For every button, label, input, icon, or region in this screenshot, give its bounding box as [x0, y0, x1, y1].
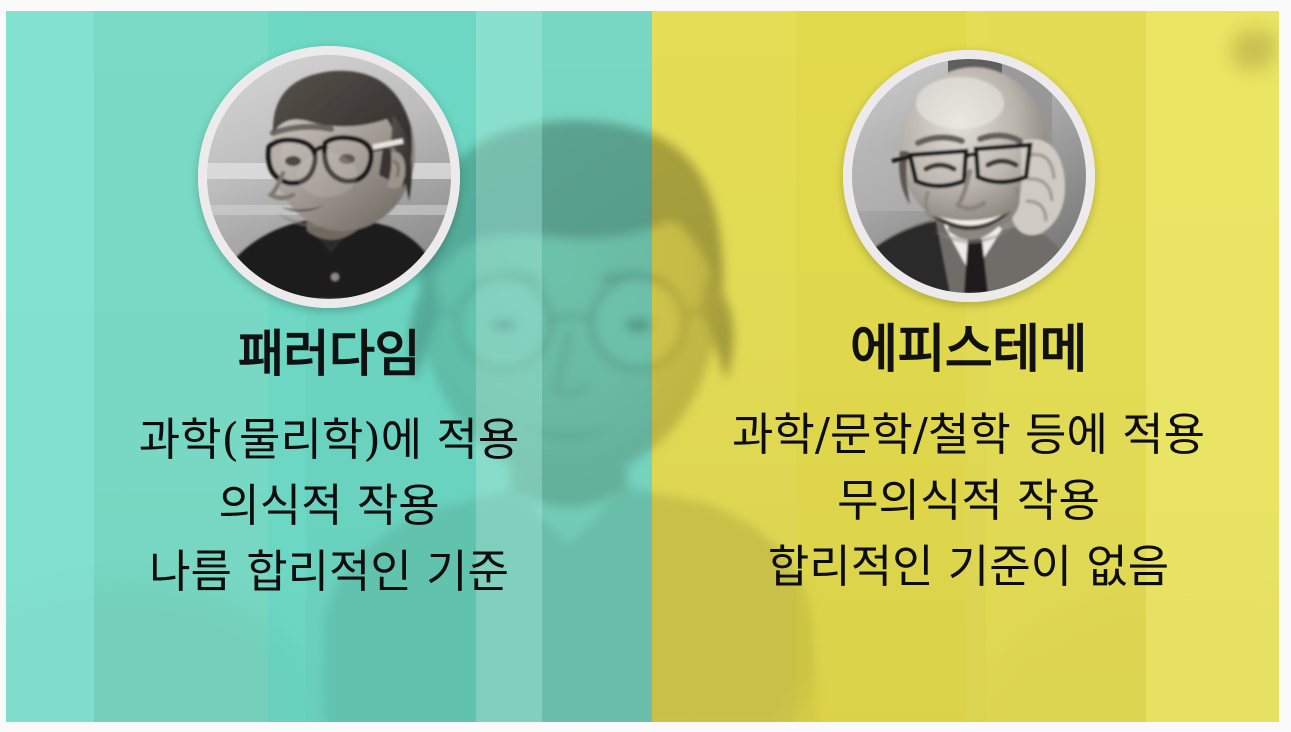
left-body-line-3: 나름 합리적인 기준	[139, 539, 520, 605]
left-heading: 패러다임	[238, 329, 420, 379]
michel-foucault-photo	[852, 59, 1086, 293]
left-body-line-2: 의식적 작용	[139, 473, 520, 539]
right-body-text: 과학/문학/철학 등에 적용 무의식적 작용 합리적인 기준이 없음	[732, 402, 1205, 600]
right-panel: 에피스테메 과학/문학/철학 등에 적용 무의식적 작용 합리적인 기준이 없음	[652, 11, 1285, 727]
photo-frame: 패러다임 과학(물리학)에 적용 의식적 작용 나름 합리적인 기준	[6, 11, 1285, 727]
bottom-edge-matte	[6, 722, 1285, 727]
left-panel: 패러다임 과학(물리학)에 적용 의식적 작용 나름 합리적인 기준	[6, 11, 652, 727]
thomas-kuhn-portrait[interactable]	[198, 46, 460, 308]
left-body-text: 과학(물리학)에 적용 의식적 작용 나름 합리적인 기준	[139, 407, 520, 605]
content-columns: 패러다임 과학(물리학)에 적용 의식적 작용 나름 합리적인 기준	[6, 11, 1285, 727]
right-body-line-2: 무의식적 작용	[732, 468, 1205, 534]
slide-root: 패러다임 과학(물리학)에 적용 의식적 작용 나름 합리적인 기준	[0, 0, 1291, 732]
right-body-line-1: 과학/문학/철학 등에 적용	[732, 402, 1205, 468]
right-edge-matte	[1279, 11, 1285, 727]
right-heading: 에피스테메	[850, 324, 1087, 376]
right-body-line-3: 합리적인 기준이 없음	[732, 534, 1205, 600]
thomas-kuhn-photo	[207, 55, 451, 299]
left-body-line-1: 과학(물리학)에 적용	[139, 407, 520, 473]
michel-foucault-portrait[interactable]	[843, 50, 1095, 302]
